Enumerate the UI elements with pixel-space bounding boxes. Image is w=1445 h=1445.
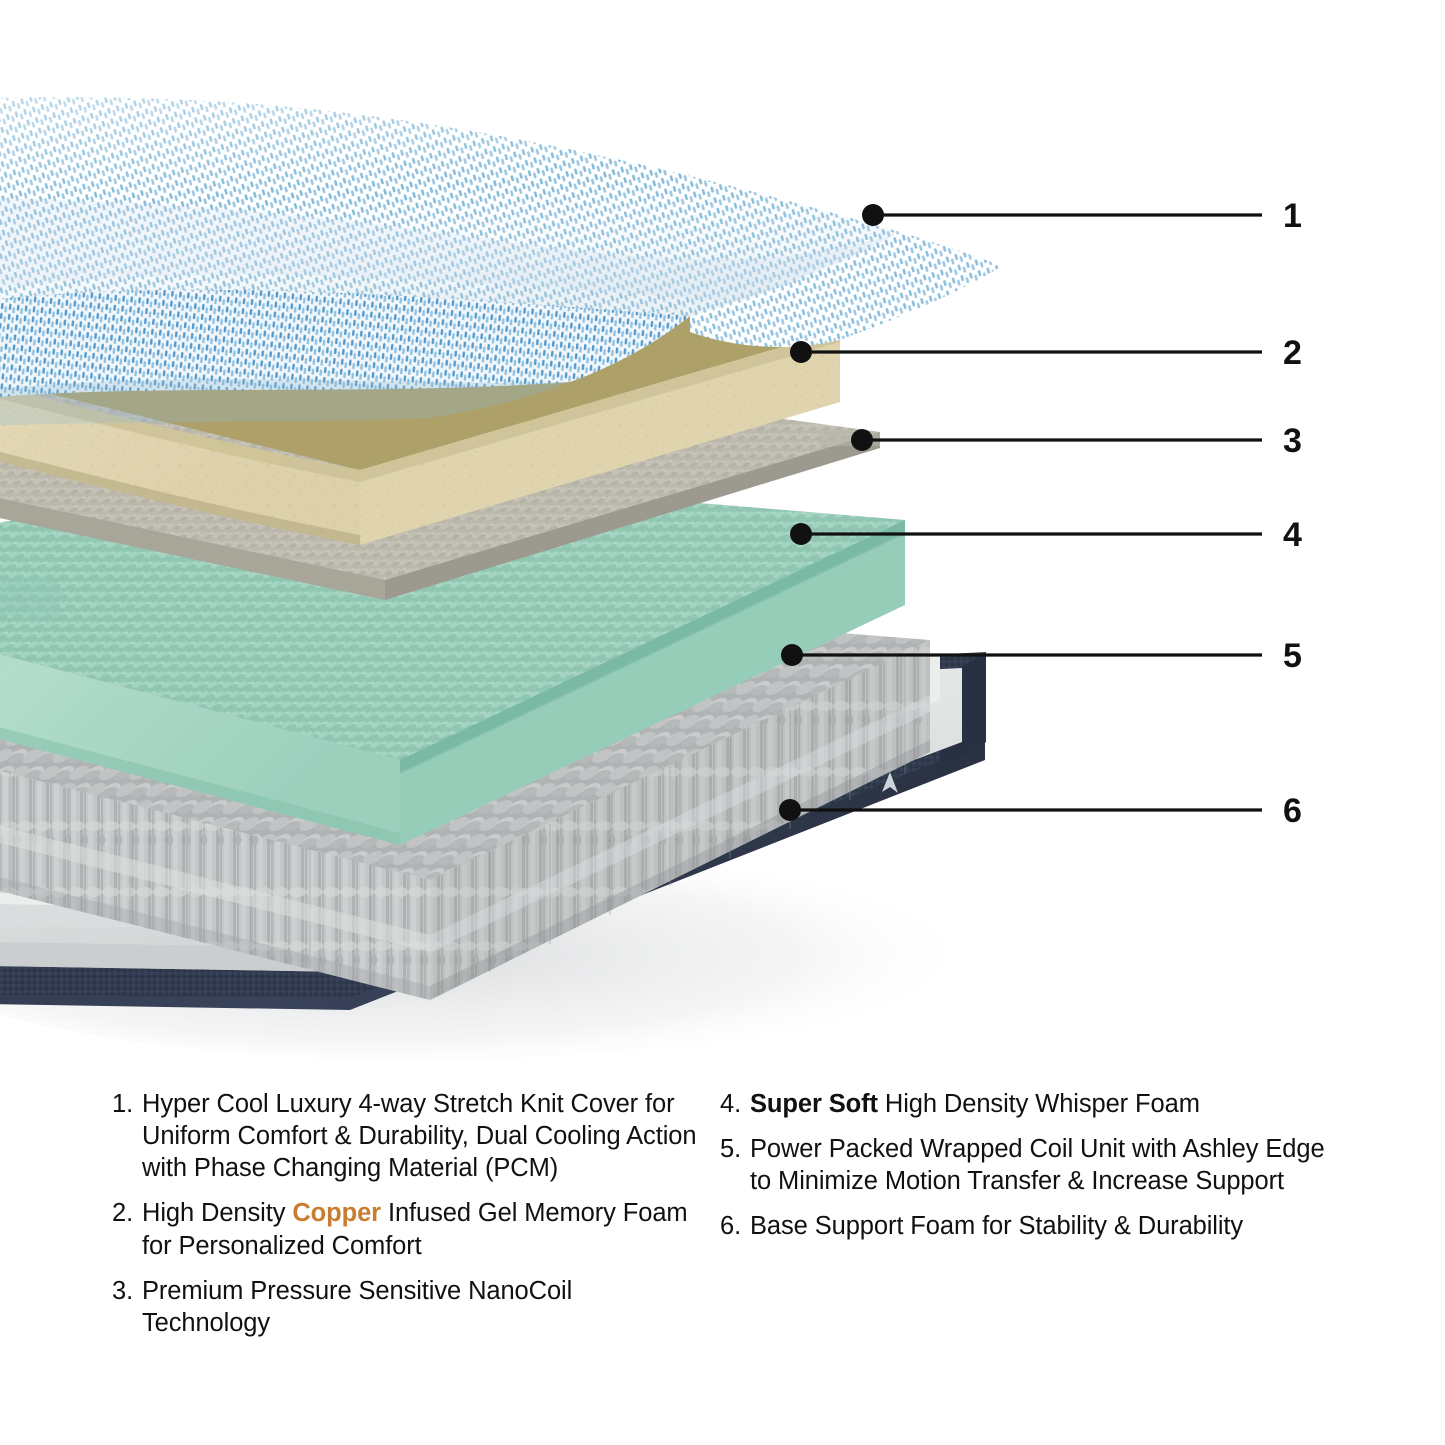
legend-text-segment: Base Support Foam for Stability & Durabi… bbox=[750, 1212, 1243, 1240]
callout-number-3: 3 bbox=[1283, 422, 1302, 460]
legend-item-text: Super Soft High Density Whisper Foam bbox=[750, 1088, 1332, 1120]
leader-dot-icon bbox=[790, 341, 812, 363]
legend-item-index: 1. bbox=[112, 1088, 142, 1120]
legend-column-right: 4.Super Soft High Density Whisper Foam5.… bbox=[712, 1088, 1332, 1445]
legend-text-segment: High Density Whisper Foam bbox=[878, 1090, 1200, 1118]
leader-dot-icon bbox=[779, 799, 801, 821]
legend-item-text: High Density Copper Infused Gel Memory F… bbox=[142, 1197, 702, 1261]
legend-item-index: 5. bbox=[720, 1133, 750, 1165]
leader-dot-icon bbox=[851, 429, 873, 451]
callout-number-4: 4 bbox=[1283, 516, 1302, 554]
diagram-canvas: 123456 bbox=[0, 0, 1445, 1060]
callout-number-6: 6 bbox=[1283, 792, 1302, 830]
legend-item: 1.Hyper Cool Luxury 4-way Stretch Knit C… bbox=[112, 1088, 702, 1184]
callout-number-2: 2 bbox=[1283, 334, 1302, 372]
legend-item-text: Base Support Foam for Stability & Durabi… bbox=[750, 1210, 1332, 1242]
legend-item: 3.Premium Pressure Sensitive NanoCoil Te… bbox=[112, 1275, 702, 1339]
legend-text-segment: High Density bbox=[142, 1199, 292, 1227]
legend-accent-copper: Copper bbox=[292, 1199, 381, 1227]
legend-item: 4.Super Soft High Density Whisper Foam bbox=[720, 1088, 1332, 1120]
layer-1-hyper-cool-knit-cover bbox=[0, 97, 1002, 436]
callout-number-5: 5 bbox=[1283, 637, 1302, 675]
callout-2: 2 bbox=[790, 334, 1302, 372]
leader-dot-icon bbox=[781, 644, 803, 666]
callout-3: 3 bbox=[851, 422, 1302, 460]
legend-item-index: 2. bbox=[112, 1197, 142, 1229]
legend-item-text: Power Packed Wrapped Coil Unit with Ashl… bbox=[750, 1133, 1332, 1197]
legend-item: 2.High Density Copper Infused Gel Memory… bbox=[112, 1197, 702, 1261]
leader-dot-icon bbox=[790, 523, 812, 545]
mattress-layer-diagram: 123456 bbox=[0, 0, 1445, 1060]
legend-accent-bold: Super Soft bbox=[750, 1090, 878, 1118]
legend-text-segment: Power Packed Wrapped Coil Unit with Ashl… bbox=[750, 1135, 1325, 1195]
leader-dot-icon bbox=[862, 204, 884, 226]
legend-item-text: Hyper Cool Luxury 4-way Stretch Knit Cov… bbox=[142, 1088, 702, 1184]
legend-item-index: 4. bbox=[720, 1088, 750, 1120]
legend-column-left: 1.Hyper Cool Luxury 4-way Stretch Knit C… bbox=[112, 1088, 712, 1445]
legend-panel: 1.Hyper Cool Luxury 4-way Stretch Knit C… bbox=[0, 1088, 1445, 1445]
legend-item: 6.Base Support Foam for Stability & Dura… bbox=[720, 1210, 1332, 1242]
legend-text-segment: Hyper Cool Luxury 4-way Stretch Knit Cov… bbox=[142, 1090, 696, 1182]
legend-text-segment: Premium Pressure Sensitive NanoCoil Tech… bbox=[142, 1277, 572, 1337]
callout-number-1: 1 bbox=[1283, 197, 1302, 235]
legend-item-text: Premium Pressure Sensitive NanoCoil Tech… bbox=[142, 1275, 702, 1339]
legend-item-index: 6. bbox=[720, 1210, 750, 1242]
legend-item-index: 3. bbox=[112, 1275, 142, 1307]
callout-1: 1 bbox=[862, 197, 1302, 235]
legend-item: 5.Power Packed Wrapped Coil Unit with As… bbox=[720, 1133, 1332, 1197]
